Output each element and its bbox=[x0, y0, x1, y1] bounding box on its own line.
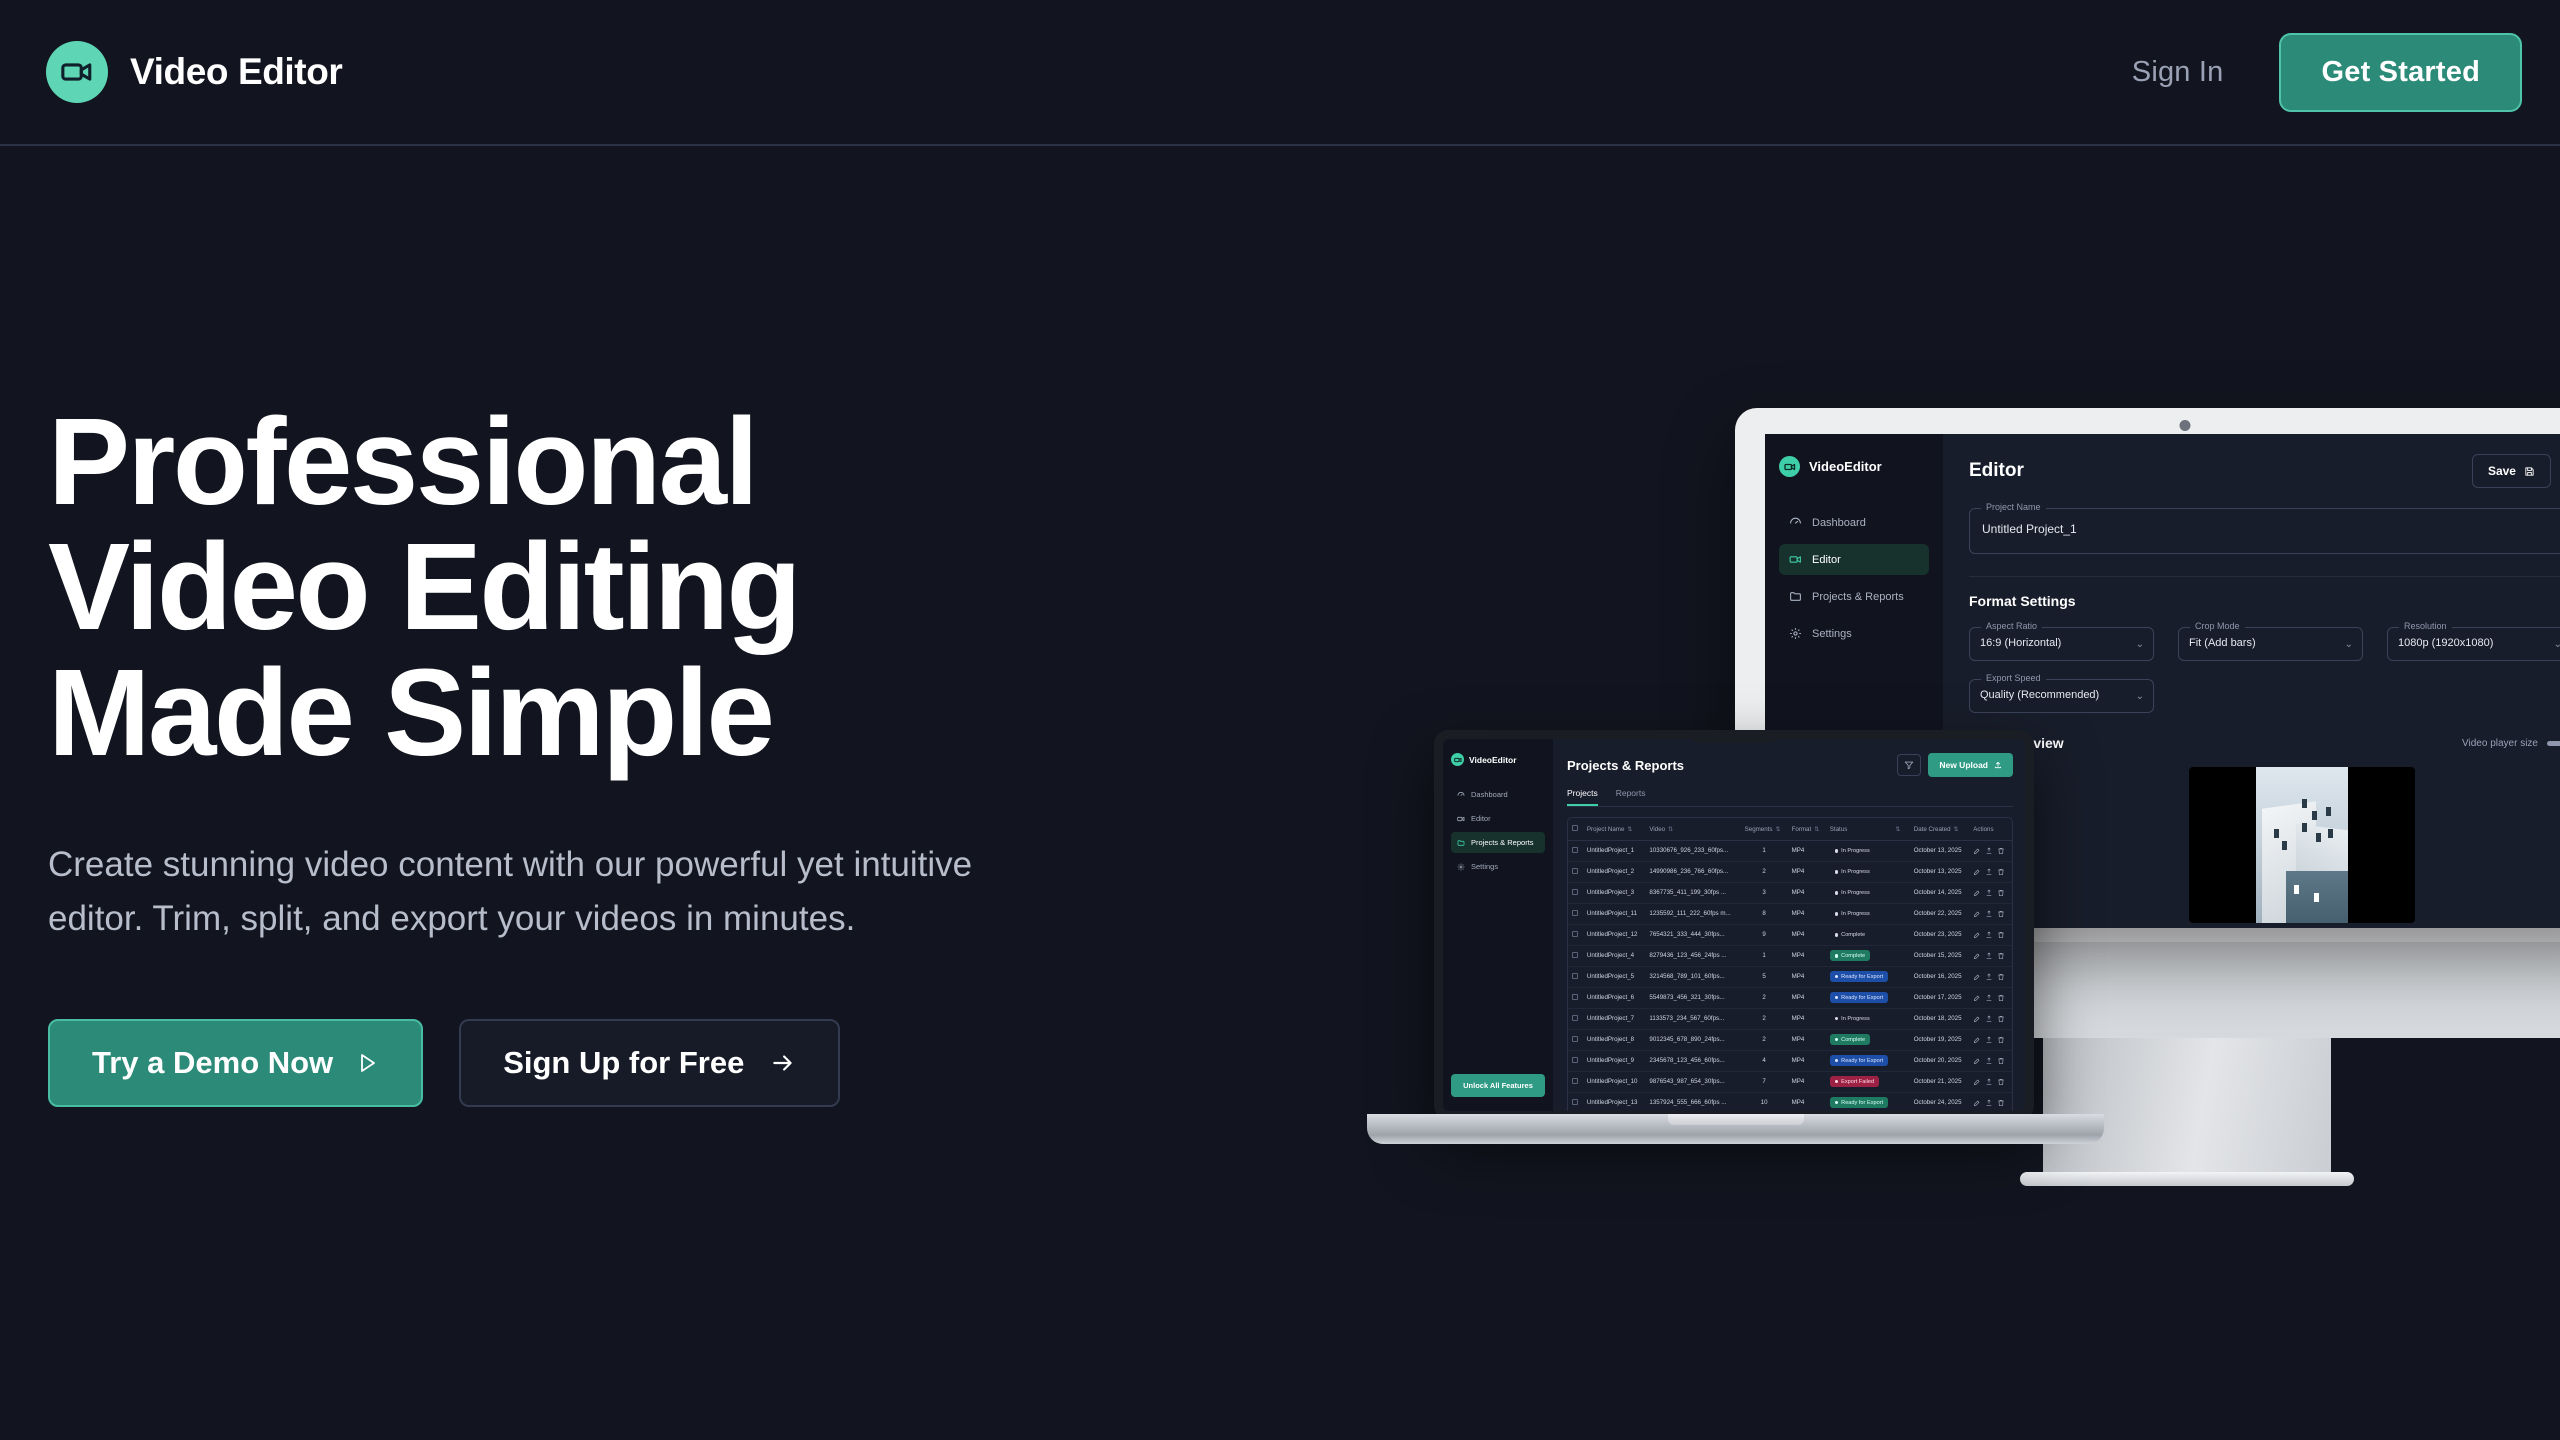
cell-video: 1133573_234_567_60fps... bbox=[1645, 1008, 1740, 1029]
sidebar-item-settings[interactable]: Settings bbox=[1451, 856, 1545, 877]
cell-video: 1235592_111_222_60fps m... bbox=[1645, 903, 1740, 924]
delete-icon[interactable] bbox=[1997, 994, 2005, 1002]
tab-projects[interactable]: Projects bbox=[1567, 788, 1598, 806]
video-preview-player[interactable] bbox=[2189, 767, 2415, 923]
hero-subtitle: Create stunning video content with our p… bbox=[48, 838, 1138, 944]
save-label: Save bbox=[2488, 464, 2516, 478]
cell-format: MP4 bbox=[1788, 966, 1826, 987]
cell-project-name: UntitledProject_10 bbox=[1583, 1071, 1645, 1092]
edit-icon[interactable] bbox=[1973, 1099, 1981, 1107]
cell-status: In Progress bbox=[1826, 882, 1910, 903]
projects-brand: VideoEditor bbox=[1451, 753, 1545, 766]
cell-project-name: UntitledProject_12 bbox=[1583, 924, 1645, 945]
projects-table: Project Name⇅ Video⇅ Segments⇅ Format⇅ S… bbox=[1567, 817, 2013, 1111]
status-badge: In Progress bbox=[1830, 867, 1875, 878]
row-checkbox[interactable] bbox=[1572, 1036, 1578, 1042]
chevron-down-icon: ⌄ bbox=[2554, 639, 2560, 650]
header-nav: Sign In Get Started bbox=[2132, 33, 2522, 112]
cell-date-created: October 23, 2025 bbox=[1910, 924, 1970, 945]
row-checkbox[interactable] bbox=[1572, 973, 1578, 979]
sidebar-item-label: Projects & Reports bbox=[1812, 591, 1904, 603]
brand-name: Video Editor bbox=[130, 51, 342, 93]
status-badge: Export Failed bbox=[1830, 1076, 1879, 1087]
projects-header-actions: New Upload bbox=[1897, 753, 2013, 777]
sidebar-item-editor[interactable]: Editor bbox=[1779, 544, 1929, 575]
export-icon[interactable] bbox=[1985, 931, 1993, 939]
delete-icon[interactable] bbox=[1997, 889, 2005, 897]
export-speed-value: Quality (Recommended) bbox=[1980, 689, 2099, 701]
cell-format: MP4 bbox=[1788, 1050, 1826, 1071]
row-checkbox[interactable] bbox=[1572, 910, 1578, 916]
edit-icon[interactable] bbox=[1973, 994, 1981, 1002]
edit-icon[interactable] bbox=[1973, 889, 1981, 897]
cell-video: 2345678_123_456_60fps... bbox=[1645, 1050, 1740, 1071]
cell-date-created: October 21, 2025 bbox=[1910, 1071, 1970, 1092]
editor-toolbar: Editor Save Export bbox=[1969, 454, 2560, 488]
editor-brand: VideoEditor bbox=[1779, 456, 1929, 477]
cell-segments: 2 bbox=[1741, 987, 1788, 1008]
col-select[interactable] bbox=[1568, 818, 1583, 841]
folder-icon bbox=[1789, 590, 1802, 603]
cell-date-created: October 22, 2025 bbox=[1910, 903, 1970, 924]
table-row[interactable]: UntitledProject_65549873_456_321_30fps..… bbox=[1568, 987, 2012, 1008]
cell-video: 5549873_456_321_30fps... bbox=[1645, 987, 1740, 1008]
folder-icon bbox=[1457, 839, 1465, 847]
cell-status: In Progress bbox=[1826, 903, 1910, 924]
table-row[interactable]: UntitledProject_38367735_411_199_30fps .… bbox=[1568, 882, 2012, 903]
sidebar-item-label: Dashboard bbox=[1812, 517, 1866, 529]
export-icon[interactable] bbox=[1985, 1057, 1993, 1065]
laptop-base-notch bbox=[1668, 1114, 1804, 1125]
delete-icon[interactable] bbox=[1997, 847, 2005, 855]
export-speed-label: Export Speed bbox=[1981, 673, 2046, 683]
cell-actions[interactable] bbox=[1969, 882, 2012, 903]
format-settings-row-1: Aspect Ratio 16:9 (Horizontal) ⌄ Crop Mo… bbox=[1969, 627, 2560, 661]
export-icon[interactable] bbox=[1985, 973, 1993, 981]
status-badge: Ready for Export bbox=[1830, 992, 1888, 1003]
editor-actions: Save Export bbox=[2472, 454, 2560, 488]
cell-format: MP4 bbox=[1788, 1008, 1826, 1029]
cell-status: Export Failed bbox=[1826, 1071, 1910, 1092]
upload-icon bbox=[1994, 761, 2002, 769]
cell-actions[interactable] bbox=[1969, 1092, 2012, 1111]
cell-segments: 9 bbox=[1741, 924, 1788, 945]
cell-format: MP4 bbox=[1788, 1092, 1826, 1111]
cell-date-created: October 24, 2025 bbox=[1910, 1092, 1970, 1111]
save-button[interactable]: Save bbox=[2472, 454, 2551, 488]
cell-actions[interactable] bbox=[1969, 987, 2012, 1008]
edit-icon[interactable] bbox=[1973, 1057, 1981, 1065]
hero-section: Professional Video Editing Made Simple C… bbox=[48, 400, 1108, 1107]
col-date-created[interactable]: Date Created⇅ bbox=[1910, 818, 1970, 841]
cell-video: 8367735_411_199_30fps ... bbox=[1645, 882, 1740, 903]
cell-project-name: UntitledProject_9 bbox=[1583, 1050, 1645, 1071]
select-all-checkbox[interactable] bbox=[1572, 825, 1578, 831]
cell-project-name: UntitledProject_4 bbox=[1583, 945, 1645, 966]
row-checkbox[interactable] bbox=[1572, 931, 1578, 937]
cell-actions[interactable] bbox=[1969, 1071, 2012, 1092]
cell-status: In Progress bbox=[1826, 1008, 1910, 1029]
row-checkbox-cell[interactable] bbox=[1568, 924, 1583, 945]
table-row[interactable]: UntitledProject_110330676_926_233_60fps.… bbox=[1568, 841, 2012, 862]
status-badge: Complete bbox=[1830, 1034, 1870, 1045]
video-camera-icon bbox=[1457, 815, 1465, 823]
cell-format: MP4 bbox=[1788, 882, 1826, 903]
export-icon[interactable] bbox=[1985, 910, 1993, 918]
new-upload-label: New Upload bbox=[1939, 760, 1988, 770]
cell-format: MP4 bbox=[1788, 945, 1826, 966]
delete-icon[interactable] bbox=[1997, 1036, 2005, 1044]
projects-sidebar: VideoEditor Dashboard Editor Projects & … bbox=[1443, 739, 1553, 1111]
table-row[interactable]: UntitledProject_89012345_678_890_24fps..… bbox=[1568, 1029, 2012, 1050]
cell-video: 3214568_789_101_60fps... bbox=[1645, 966, 1740, 987]
video-camera-icon bbox=[1789, 553, 1802, 566]
page-title: Professional Video Editing Made Simple bbox=[48, 400, 1108, 776]
row-checkbox-cell[interactable] bbox=[1568, 882, 1583, 903]
projects-nav: Dashboard Editor Projects & Reports Sett… bbox=[1451, 784, 1545, 877]
cell-format: MP4 bbox=[1788, 903, 1826, 924]
table-row[interactable]: UntitledProject_48279436_123_456_24fps .… bbox=[1568, 945, 2012, 966]
sidebar-item-projects-reports[interactable]: Projects & Reports bbox=[1451, 832, 1545, 853]
cell-segments: 3 bbox=[1741, 882, 1788, 903]
filter-icon bbox=[1904, 760, 1914, 770]
arrow-right-icon bbox=[770, 1050, 796, 1076]
row-checkbox[interactable] bbox=[1572, 1057, 1578, 1063]
export-icon[interactable] bbox=[1985, 952, 1993, 960]
monitor-stand bbox=[2043, 1038, 2331, 1178]
export-speed-select[interactable]: Export Speed Quality (Recommended) ⌄ bbox=[1969, 679, 2154, 713]
cell-format: MP4 bbox=[1788, 987, 1826, 1008]
row-checkbox-cell[interactable] bbox=[1568, 987, 1583, 1008]
cell-date-created: October 19, 2025 bbox=[1910, 1029, 1970, 1050]
video-preview-header: Video Preview Video player size bbox=[1969, 735, 2560, 751]
cell-format: MP4 bbox=[1788, 1071, 1826, 1092]
laptop-mockup: VideoEditor Dashboard Editor Projects & … bbox=[1434, 730, 2034, 1120]
cell-date-created: October 14, 2025 bbox=[1910, 882, 1970, 903]
export-icon[interactable] bbox=[1985, 1036, 1993, 1044]
cell-status: Complete bbox=[1826, 945, 1910, 966]
sidebar-item-label: Editor bbox=[1812, 554, 1841, 566]
table-row[interactable]: UntitledProject_71133573_234_567_60fps..… bbox=[1568, 1008, 2012, 1029]
table-row[interactable]: UntitledProject_53214568_789_101_60fps..… bbox=[1568, 966, 2012, 987]
try-demo-button[interactable]: Try a Demo Now bbox=[48, 1019, 423, 1107]
status-badge: Complete bbox=[1830, 950, 1870, 961]
editor-nav: Dashboard Editor Projects & Reports Sett… bbox=[1779, 507, 1929, 649]
status-badge: In Progress bbox=[1830, 909, 1875, 920]
slider-label: Video player size bbox=[2462, 738, 2538, 749]
cell-actions[interactable] bbox=[1969, 841, 2012, 862]
cell-segments: 2 bbox=[1741, 1029, 1788, 1050]
edit-icon[interactable] bbox=[1973, 1015, 1981, 1023]
row-checkbox[interactable] bbox=[1572, 847, 1578, 853]
edit-icon[interactable] bbox=[1973, 868, 1981, 876]
format-settings-title: Format Settings bbox=[1969, 593, 2560, 609]
cell-project-name: UntitledProject_11 bbox=[1583, 903, 1645, 924]
cell-date-created: October 20, 2025 bbox=[1910, 1050, 1970, 1071]
edit-icon[interactable] bbox=[1973, 847, 1981, 855]
unlock-all-features-button[interactable]: Unlock All Features bbox=[1451, 1074, 1545, 1097]
format-settings-row-2: Export Speed Quality (Recommended) ⌄ bbox=[1969, 679, 2560, 713]
crop-mode-value: Fit (Add bars) bbox=[2189, 637, 2256, 649]
export-icon[interactable] bbox=[1985, 1078, 1993, 1086]
col-video[interactable]: Video⇅ bbox=[1645, 818, 1740, 841]
aspect-ratio-value: 16:9 (Horizontal) bbox=[1980, 637, 2061, 649]
cell-status: Ready for Export bbox=[1826, 966, 1910, 987]
edit-icon[interactable] bbox=[1973, 952, 1981, 960]
export-icon[interactable] bbox=[1985, 868, 1993, 876]
delete-icon[interactable] bbox=[1997, 1099, 2005, 1107]
laptop-screen: VideoEditor Dashboard Editor Projects & … bbox=[1443, 739, 2025, 1111]
sidebar-item-label: Projects & Reports bbox=[1471, 838, 1534, 847]
crop-mode-select[interactable]: Crop Mode Fit (Add bars) ⌄ bbox=[2178, 627, 2363, 661]
cell-actions[interactable] bbox=[1969, 924, 2012, 945]
cell-actions[interactable] bbox=[1969, 1029, 2012, 1050]
row-checkbox[interactable] bbox=[1572, 952, 1578, 958]
gear-icon bbox=[1457, 863, 1465, 871]
sidebar-item-dashboard[interactable]: Dashboard bbox=[1779, 507, 1929, 538]
video-player-size-control[interactable]: Video player size bbox=[2462, 738, 2560, 749]
row-checkbox-cell[interactable] bbox=[1568, 1029, 1583, 1050]
new-upload-button[interactable]: New Upload bbox=[1928, 753, 2013, 777]
row-checkbox[interactable] bbox=[1572, 889, 1578, 895]
status-badge: In Progress bbox=[1830, 888, 1875, 899]
cell-project-name: UntitledProject_5 bbox=[1583, 966, 1645, 987]
project-name-field[interactable]: Project Name Untitled Project_1 bbox=[1969, 508, 2560, 554]
projects-header: Projects & Reports New Upload bbox=[1567, 753, 2013, 777]
try-demo-label: Try a Demo Now bbox=[92, 1045, 333, 1081]
row-checkbox-cell[interactable] bbox=[1568, 966, 1583, 987]
cell-project-name: UntitledProject_13 bbox=[1583, 1092, 1645, 1111]
cell-segments: 5 bbox=[1741, 966, 1788, 987]
tab-reports[interactable]: Reports bbox=[1616, 788, 1646, 806]
crop-mode-label: Crop Mode bbox=[2190, 621, 2245, 631]
table-row[interactable]: UntitledProject_92345678_123_456_60fps..… bbox=[1568, 1050, 2012, 1071]
edit-icon[interactable] bbox=[1973, 973, 1981, 981]
status-badge: Complete bbox=[1830, 929, 1870, 940]
cell-format: MP4 bbox=[1788, 1029, 1826, 1050]
export-icon[interactable] bbox=[1985, 1015, 1993, 1023]
laptop-notch bbox=[1691, 730, 1777, 743]
cell-date-created: October 18, 2025 bbox=[1910, 1008, 1970, 1029]
col-project-name[interactable]: Project Name⇅ bbox=[1583, 818, 1645, 841]
delete-icon[interactable] bbox=[1997, 1078, 2005, 1086]
export-icon[interactable] bbox=[1985, 994, 1993, 1002]
row-checkbox-cell[interactable] bbox=[1568, 1092, 1583, 1111]
filter-button[interactable] bbox=[1897, 754, 1921, 776]
cell-segments: 1 bbox=[1741, 945, 1788, 966]
sign-up-label: Sign Up for Free bbox=[503, 1045, 744, 1081]
project-name-label: Project Name bbox=[1981, 502, 2046, 512]
sidebar-item-label: Settings bbox=[1812, 628, 1852, 640]
row-checkbox-cell[interactable] bbox=[1568, 945, 1583, 966]
projects-page-title: Projects & Reports bbox=[1567, 758, 1684, 773]
row-checkbox-cell[interactable] bbox=[1568, 903, 1583, 924]
hero-cta-group: Try a Demo Now Sign Up for Free bbox=[48, 1019, 1108, 1107]
cell-video: 14990986_236_766_60fps... bbox=[1645, 861, 1740, 882]
gauge-icon bbox=[1457, 791, 1465, 799]
status-badge: Ready for Export bbox=[1830, 971, 1888, 982]
site-header: Video Editor Sign In Get Started bbox=[0, 0, 2560, 146]
sidebar-item-label: Editor bbox=[1471, 814, 1491, 823]
divider bbox=[1969, 576, 2560, 577]
cell-project-name: UntitledProject_7 bbox=[1583, 1008, 1645, 1029]
export-icon[interactable] bbox=[1985, 889, 1993, 897]
video-camera-icon bbox=[46, 41, 108, 103]
cell-date-created: October 17, 2025 bbox=[1910, 987, 1970, 1008]
cell-status: Complete bbox=[1826, 924, 1910, 945]
cell-video: 9012345_678_890_24fps... bbox=[1645, 1029, 1740, 1050]
video-camera-icon bbox=[1451, 753, 1464, 766]
cell-status: Ready for Export bbox=[1826, 1050, 1910, 1071]
cell-status: Complete bbox=[1826, 1029, 1910, 1050]
cell-video: 10330676_926_233_60fps... bbox=[1645, 841, 1740, 862]
cell-project-name: UntitledProject_3 bbox=[1583, 882, 1645, 903]
col-actions: Actions bbox=[1969, 818, 2012, 841]
cell-segments: 7 bbox=[1741, 1071, 1788, 1092]
resolution-value: 1080p (1920x1080) bbox=[2398, 637, 2493, 649]
row-checkbox[interactable] bbox=[1572, 1078, 1578, 1084]
cell-segments: 8 bbox=[1741, 903, 1788, 924]
cell-segments: 2 bbox=[1741, 1008, 1788, 1029]
resolution-select[interactable]: Resolution 1080p (1920x1080) ⌄ bbox=[2387, 627, 2560, 661]
cell-actions[interactable] bbox=[1969, 861, 2012, 882]
chevron-down-icon: ⌄ bbox=[2136, 691, 2144, 702]
cell-format: MP4 bbox=[1788, 924, 1826, 945]
row-checkbox-cell[interactable] bbox=[1568, 841, 1583, 862]
sign-in-button[interactable]: Sign In bbox=[2132, 56, 2224, 89]
status-badge: In Progress bbox=[1830, 846, 1875, 857]
editor-main: Editor Save Export Project Name Untitled… bbox=[1943, 434, 2560, 928]
sidebar-item-dashboard[interactable]: Dashboard bbox=[1451, 784, 1545, 805]
cell-segments: 1 bbox=[1741, 841, 1788, 862]
aspect-ratio-label: Aspect Ratio bbox=[1981, 621, 2042, 631]
row-checkbox[interactable] bbox=[1572, 868, 1578, 874]
gauge-icon bbox=[1789, 516, 1802, 529]
sidebar-item-label: Settings bbox=[1471, 862, 1498, 871]
get-started-button[interactable]: Get Started bbox=[2279, 33, 2522, 112]
cell-date-created: October 13, 2025 bbox=[1910, 861, 1970, 882]
cell-actions[interactable] bbox=[1969, 1050, 2012, 1071]
floppy-disk-icon bbox=[2524, 466, 2535, 477]
delete-icon[interactable] bbox=[1997, 931, 2005, 939]
col-format[interactable]: Format⇅ bbox=[1788, 818, 1826, 841]
cell-segments: 10 bbox=[1741, 1092, 1788, 1111]
editor-brand-name: VideoEditor bbox=[1809, 459, 1882, 474]
cell-video: 1357924_555_666_60fps ... bbox=[1645, 1092, 1740, 1111]
table-header-row: Project Name⇅ Video⇅ Segments⇅ Format⇅ S… bbox=[1568, 818, 2012, 841]
delete-icon[interactable] bbox=[1997, 910, 2005, 918]
cell-video: 7654321_333_444_30fps... bbox=[1645, 924, 1740, 945]
project-name-value: Untitled Project_1 bbox=[1982, 522, 2077, 536]
table-row[interactable]: UntitledProject_127654321_333_444_30fps.… bbox=[1568, 924, 2012, 945]
cell-project-name: UntitledProject_6 bbox=[1583, 987, 1645, 1008]
cell-actions[interactable] bbox=[1969, 966, 2012, 987]
sidebar-item-projects-reports[interactable]: Projects & Reports bbox=[1779, 581, 1929, 612]
cell-actions[interactable] bbox=[1969, 945, 2012, 966]
table-row[interactable]: UntitledProject_131357924_555_666_60fps … bbox=[1568, 1092, 2012, 1111]
status-badge: Ready for Export bbox=[1830, 1055, 1888, 1066]
cell-status: In Progress bbox=[1826, 841, 1910, 862]
cell-actions[interactable] bbox=[1969, 903, 2012, 924]
cell-segments: 2 bbox=[1741, 861, 1788, 882]
edit-icon[interactable] bbox=[1973, 1036, 1981, 1044]
play-triangle-icon bbox=[355, 1051, 379, 1075]
delete-icon[interactable] bbox=[1997, 973, 2005, 981]
cell-date-created: October 15, 2025 bbox=[1910, 945, 1970, 966]
delete-icon[interactable] bbox=[1997, 952, 2005, 960]
cell-segments: 4 bbox=[1741, 1050, 1788, 1071]
table-row[interactable]: UntitledProject_214990986_236_766_60fps.… bbox=[1568, 861, 2012, 882]
cell-status: Ready for Export bbox=[1826, 1092, 1910, 1111]
cell-actions[interactable] bbox=[1969, 1008, 2012, 1029]
aspect-ratio-select[interactable]: Aspect Ratio 16:9 (Horizontal) ⌄ bbox=[1969, 627, 2154, 661]
row-checkbox[interactable] bbox=[1572, 1099, 1578, 1105]
brand[interactable]: Video Editor bbox=[46, 41, 342, 103]
sidebar-item-settings[interactable]: Settings bbox=[1779, 618, 1929, 649]
projects-main: Projects & Reports New Upload Projects R… bbox=[1553, 739, 2025, 1111]
cell-status: In Progress bbox=[1826, 861, 1910, 882]
delete-icon[interactable] bbox=[1997, 868, 2005, 876]
cell-format: MP4 bbox=[1788, 841, 1826, 862]
delete-icon[interactable] bbox=[1997, 1057, 2005, 1065]
resolution-label: Resolution bbox=[2399, 621, 2452, 631]
projects-brand-name: VideoEditor bbox=[1469, 755, 1517, 765]
table-row[interactable]: UntitledProject_111235592_111_222_60fps … bbox=[1568, 903, 2012, 924]
export-icon[interactable] bbox=[1985, 1099, 1993, 1107]
gear-icon bbox=[1789, 627, 1802, 640]
cell-project-name: UntitledProject_8 bbox=[1583, 1029, 1645, 1050]
edit-icon[interactable] bbox=[1973, 1078, 1981, 1086]
export-icon[interactable] bbox=[1985, 847, 1993, 855]
video-camera-icon bbox=[1779, 456, 1800, 477]
col-status[interactable]: Status⇅ bbox=[1826, 818, 1910, 841]
status-badge: Ready for Export bbox=[1830, 1097, 1888, 1108]
cell-date-created: October 13, 2025 bbox=[1910, 841, 1970, 862]
sign-up-button[interactable]: Sign Up for Free bbox=[459, 1019, 840, 1107]
cell-video: 9876543_987_654_30fps... bbox=[1645, 1071, 1740, 1092]
row-checkbox-cell[interactable] bbox=[1568, 1071, 1583, 1092]
row-checkbox-cell[interactable] bbox=[1568, 1008, 1583, 1029]
chevron-down-icon: ⌄ bbox=[2136, 639, 2144, 650]
row-checkbox-cell[interactable] bbox=[1568, 861, 1583, 882]
projects-tabs: Projects Reports bbox=[1567, 788, 2013, 807]
edit-icon[interactable] bbox=[1973, 931, 1981, 939]
edit-icon[interactable] bbox=[1973, 910, 1981, 918]
sidebar-item-label: Dashboard bbox=[1471, 790, 1508, 799]
chevron-down-icon: ⌄ bbox=[2345, 639, 2353, 650]
cell-date-created: October 16, 2025 bbox=[1910, 966, 1970, 987]
cell-status: Ready for Export bbox=[1826, 987, 1910, 1008]
monitor-foot bbox=[2020, 1172, 2354, 1186]
col-segments[interactable]: Segments⇅ bbox=[1741, 818, 1788, 841]
cell-format: MP4 bbox=[1788, 861, 1826, 882]
monitor-camera-dot bbox=[2180, 420, 2191, 431]
row-checkbox[interactable] bbox=[1572, 994, 1578, 1000]
cell-project-name: UntitledProject_2 bbox=[1583, 861, 1645, 882]
preview-thumbnail-building bbox=[2256, 767, 2348, 923]
table-row[interactable]: UntitledProject_109876543_987_654_30fps.… bbox=[1568, 1071, 2012, 1092]
slider-track[interactable] bbox=[2547, 741, 2560, 746]
row-checkbox-cell[interactable] bbox=[1568, 1050, 1583, 1071]
delete-icon[interactable] bbox=[1997, 1015, 2005, 1023]
cell-project-name: UntitledProject_1 bbox=[1583, 841, 1645, 862]
editor-page-title: Editor bbox=[1969, 460, 2024, 482]
row-checkbox[interactable] bbox=[1572, 1015, 1578, 1021]
cell-video: 8279436_123_456_24fps ... bbox=[1645, 945, 1740, 966]
sidebar-item-editor[interactable]: Editor bbox=[1451, 808, 1545, 829]
status-badge: In Progress bbox=[1830, 1013, 1875, 1024]
